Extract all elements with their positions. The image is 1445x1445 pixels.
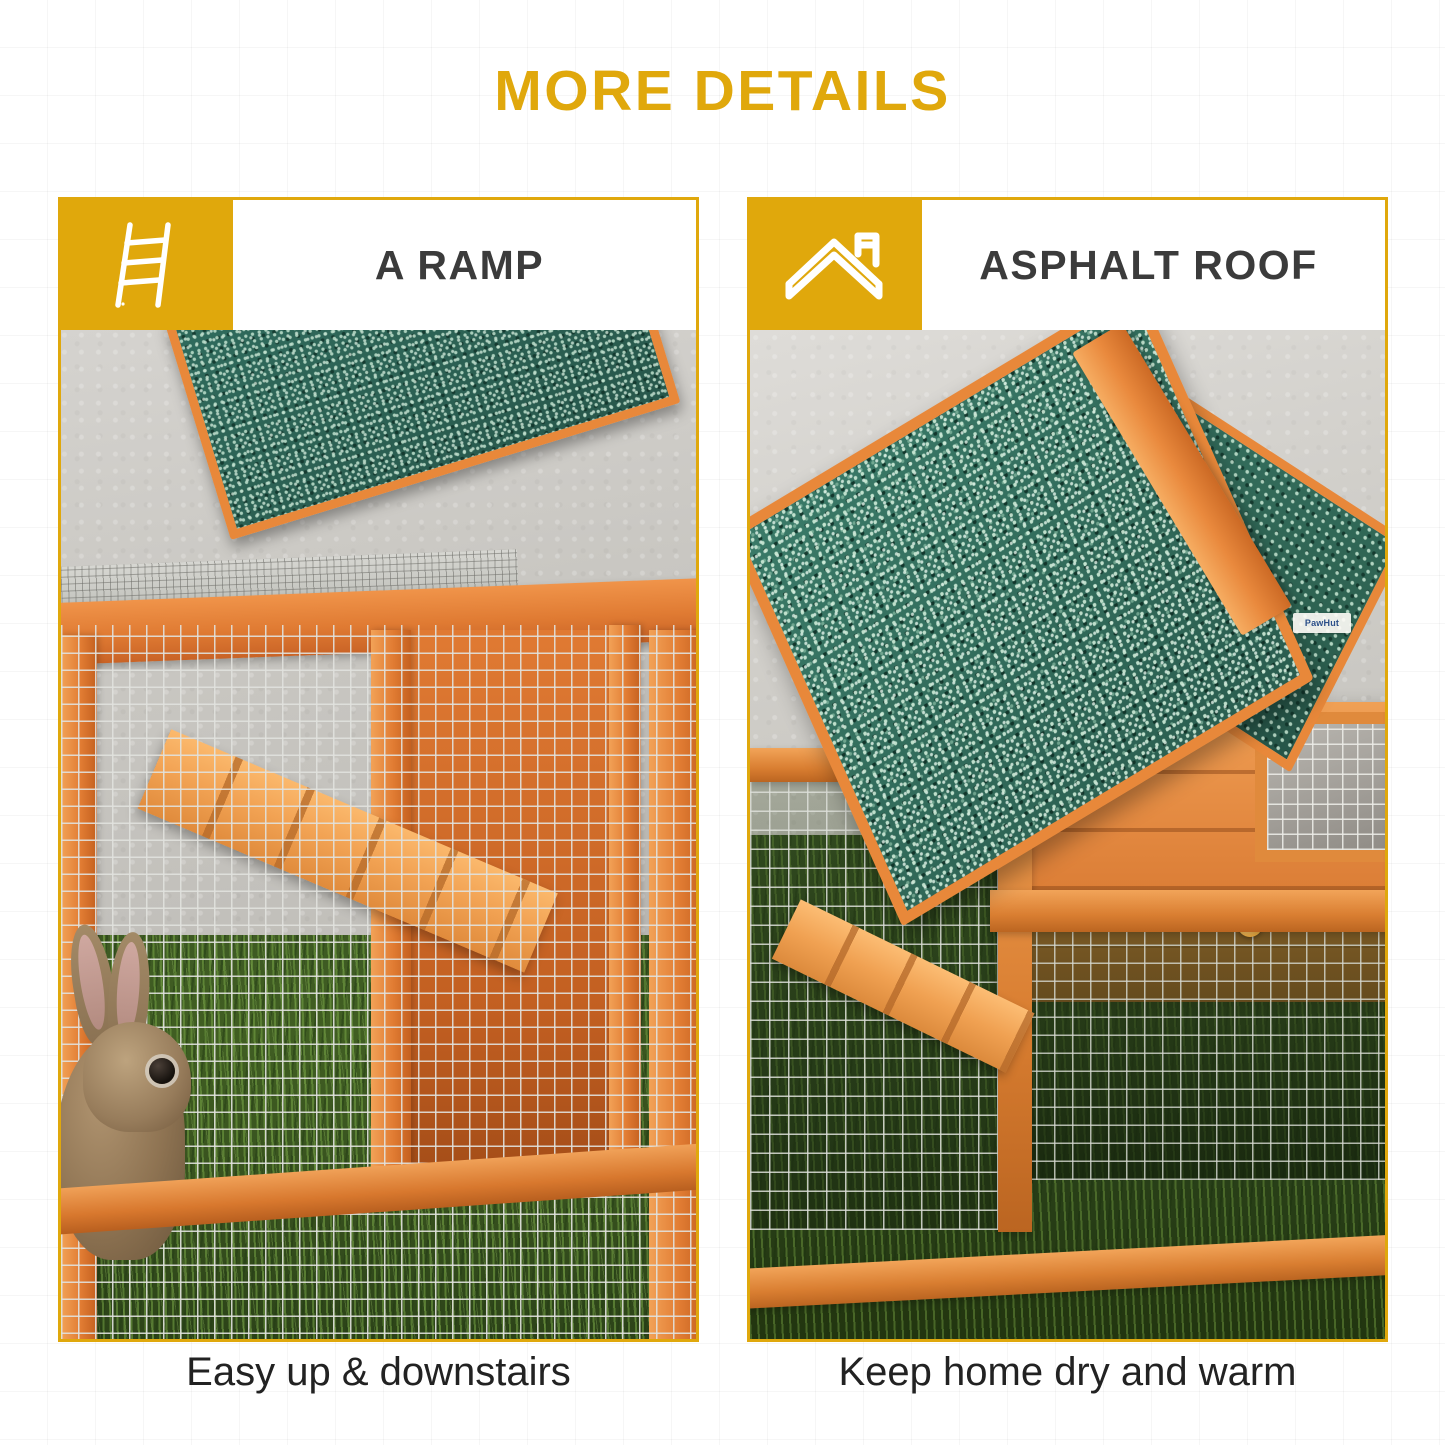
hutch-lower-mesh	[1000, 930, 1385, 1180]
badge-asphalt-roof	[750, 200, 922, 330]
panel-label-ramp: A RAMP	[233, 200, 696, 330]
panel-photo-ramp	[58, 330, 699, 1342]
caption-ramp: Easy up & downstairs	[58, 1350, 699, 1395]
detail-panel-ramp: A RAMP	[58, 197, 699, 1342]
panel-header-asphalt-roof: ASPHALT ROOF	[747, 197, 1388, 330]
brand-logo: PawHut	[1293, 613, 1351, 633]
detail-panels: A RAMP	[58, 197, 1388, 1342]
panel-captions: Easy up & downstairs Keep home dry and w…	[58, 1350, 1388, 1395]
ladder-icon	[108, 219, 186, 311]
hutch-mid-rail	[990, 890, 1385, 932]
panel-photo-asphalt-roof: PawHut	[747, 330, 1388, 1342]
roof-chimney-icon	[784, 228, 888, 302]
page-title: MORE DETAILS	[0, 58, 1445, 124]
caption-asphalt-roof: Keep home dry and warm	[747, 1350, 1388, 1395]
badge-ramp	[61, 200, 233, 330]
panel-label-asphalt-roof: ASPHALT ROOF	[922, 200, 1385, 330]
detail-panel-asphalt-roof: ASPHALT ROOF	[747, 197, 1388, 1342]
panel-header-ramp: A RAMP	[58, 197, 699, 330]
